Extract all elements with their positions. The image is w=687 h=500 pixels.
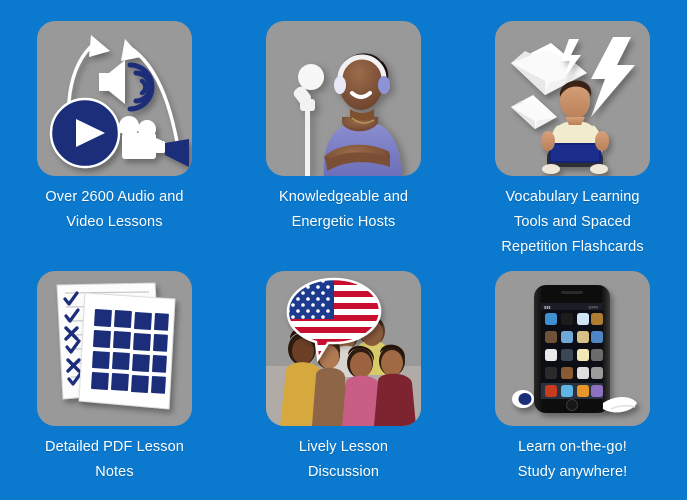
feature-label-lesson-discussion: Lively Lesson Discussion	[244, 435, 444, 485]
feature-label-line: Detailed PDF Lesson	[15, 435, 215, 460]
feature-label-line: Energetic Hosts	[244, 210, 444, 235]
learn-on-the-go-tile[interactable]: ▮▮▮ 100%	[495, 271, 650, 426]
flashcards-laptop-icon	[495, 21, 650, 176]
feature-label-line: Tools and Spaced	[473, 210, 673, 235]
feature-card-knowledgeable-hosts[interactable]: Knowledgeable and Energetic Hosts	[229, 0, 458, 250]
feature-card-lesson-discussion[interactable]: Lively Lesson Discussion	[229, 250, 458, 500]
svg-text:100%: 100%	[588, 305, 599, 310]
feature-label-line: Learn on-the-go!	[473, 435, 673, 460]
speech-bubble-group-icon	[266, 271, 421, 426]
feature-label-line: Knowledgeable and	[244, 185, 444, 210]
feature-label-learn-on-the-go: Learn on-the-go! Study anywhere!	[473, 435, 673, 485]
feature-label-line: Lively Lesson	[244, 435, 444, 460]
feature-label-line: Study anywhere!	[473, 460, 673, 485]
feature-label-line: Notes	[15, 460, 215, 485]
feature-label-audio-video-lessons: Over 2600 Audio and Video Lessons	[15, 185, 215, 235]
feature-label-vocabulary-tools: Vocabulary Learning Tools and Spaced Rep…	[473, 185, 673, 260]
feature-label-line: Over 2600 Audio and	[15, 185, 215, 210]
pdf-lesson-notes-tile[interactable]	[37, 271, 192, 426]
knowledgeable-hosts-tile[interactable]	[266, 21, 421, 176]
vocabulary-tools-tile[interactable]	[495, 21, 650, 176]
svg-text:▮▮▮: ▮▮▮	[544, 305, 551, 310]
microphone-host-icon	[266, 21, 421, 176]
pdf-documents-icon	[37, 271, 192, 426]
feature-label-knowledgeable-hosts: Knowledgeable and Energetic Hosts	[244, 185, 444, 235]
audio-video-lessons-icon	[37, 21, 192, 176]
feature-card-pdf-lesson-notes[interactable]: Detailed PDF Lesson Notes	[0, 250, 229, 500]
feature-grid: Over 2600 Audio and Video Lessons	[0, 0, 687, 500]
mobile-device-icon: ▮▮▮ 100%	[495, 271, 650, 426]
feature-label-pdf-lesson-notes: Detailed PDF Lesson Notes	[15, 435, 215, 485]
feature-label-line: Discussion	[244, 460, 444, 485]
audio-video-lessons-tile[interactable]	[37, 21, 192, 176]
feature-card-audio-video-lessons[interactable]: Over 2600 Audio and Video Lessons	[0, 0, 229, 250]
feature-label-line: Video Lessons	[15, 210, 215, 235]
feature-card-vocabulary-tools[interactable]: Vocabulary Learning Tools and Spaced Rep…	[458, 0, 687, 250]
feature-card-learn-on-the-go[interactable]: ▮▮▮ 100%	[458, 250, 687, 500]
lesson-discussion-tile[interactable]	[266, 271, 421, 426]
feature-label-line: Vocabulary Learning	[473, 185, 673, 210]
